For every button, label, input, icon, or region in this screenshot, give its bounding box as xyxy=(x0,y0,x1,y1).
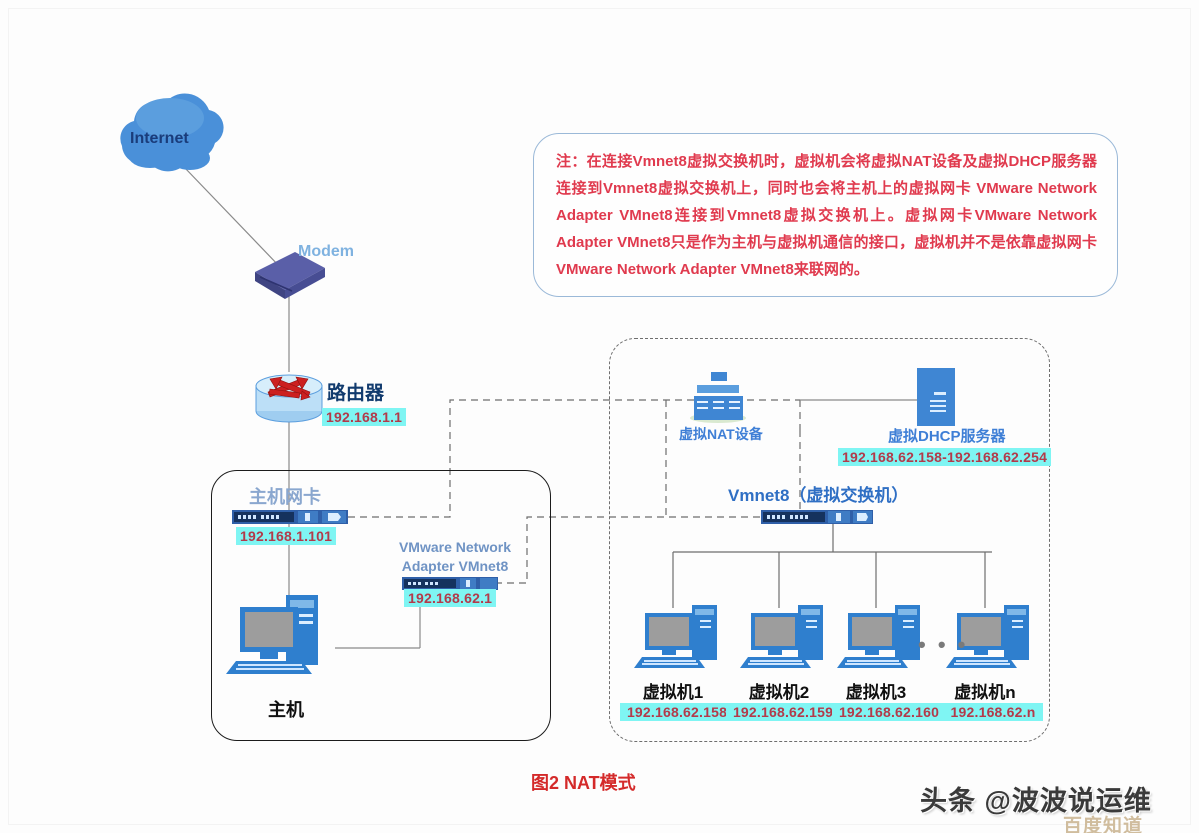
host-nic-ip: 192.168.1.101 xyxy=(236,527,336,545)
vm-name-n: 虚拟机n xyxy=(940,678,1030,703)
host-label: 主机 xyxy=(268,696,304,722)
internet-label: Internet xyxy=(130,130,189,148)
diagram-canvas: 注：在连接Vmnet8虚拟交换机时，虚拟机会将虚拟NAT设备及虚拟DHCP服务器… xyxy=(0,0,1199,833)
vm-ip-1: 192.168.62.158 xyxy=(620,703,734,721)
vmware-adapter-ip: 192.168.62.1 xyxy=(404,589,496,607)
vm-ip-2: 192.168.62.159 xyxy=(726,703,840,721)
vm-ip-n: 192.168.62.n xyxy=(943,703,1043,721)
modem-label: Modem xyxy=(298,243,354,261)
note-text: 注：在连接Vmnet8虚拟交换机时，虚拟机会将虚拟NAT设备及虚拟DHCP服务器… xyxy=(556,148,1097,283)
virtual-dhcp-label: 虚拟DHCP服务器 xyxy=(888,425,1006,446)
virtual-dhcp-ip: 192.168.62.158-192.168.62.254 xyxy=(838,448,1051,466)
vm-name-3: 虚拟机3 xyxy=(831,678,921,703)
host-nic-label: 主机网卡 xyxy=(249,483,321,509)
watermark-secondary: 百度知道 xyxy=(1063,811,1143,833)
virtual-nat-label: 虚拟NAT设备 xyxy=(679,424,763,444)
vmnet8-switch-label: Vmnet8（虚拟交换机） xyxy=(728,481,908,506)
vm-name-1: 虚拟机1 xyxy=(628,678,718,703)
vmware-adapter-label: VMware Network Adapter VMnet8 xyxy=(395,538,515,576)
note-box: 注：在连接Vmnet8虚拟交换机时，虚拟机会将虚拟NAT设备及虚拟DHCP服务器… xyxy=(533,133,1118,297)
router-ip: 192.168.1.1 xyxy=(322,408,406,426)
vmware-adapter-label-line2: Adapter VMnet8 xyxy=(402,558,509,574)
host-machine-boundary xyxy=(211,470,551,741)
vmware-adapter-label-line1: VMware Network xyxy=(399,539,511,555)
figure-caption: 图2 NAT模式 xyxy=(531,769,636,795)
router-icon xyxy=(256,375,322,422)
vm-name-2: 虚拟机2 xyxy=(734,678,824,703)
vm-ip-3: 192.168.62.160 xyxy=(832,703,946,721)
ellipsis-label: • • • xyxy=(918,632,968,658)
router-label: 路由器 xyxy=(327,378,384,405)
